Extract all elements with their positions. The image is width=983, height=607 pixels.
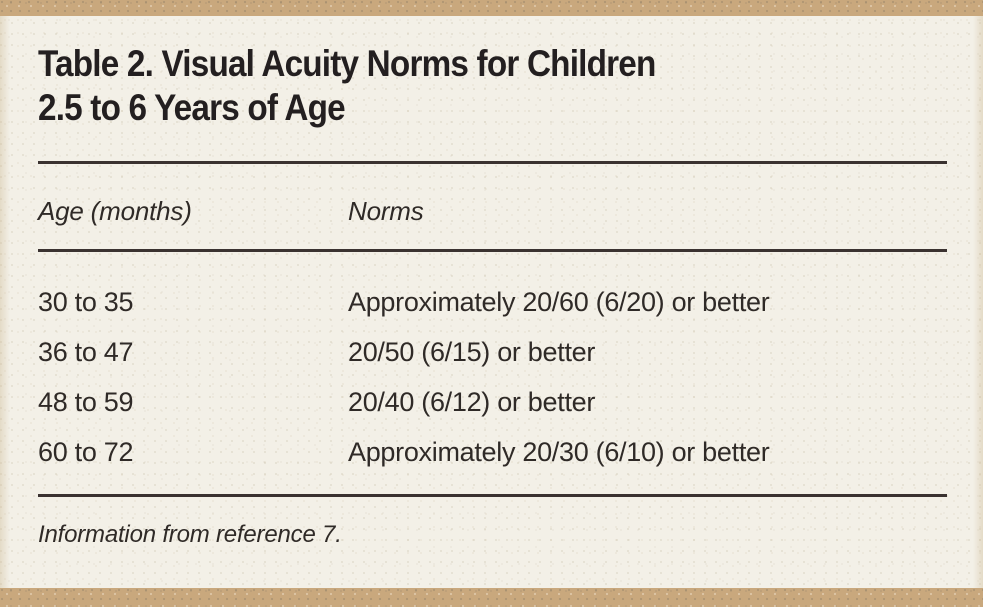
cell-age: 30 to 35	[38, 285, 348, 319]
rule-above-header	[38, 161, 947, 164]
bottom-accent-band	[0, 588, 983, 607]
cell-norm: Approximately 20/30 (6/10) or better	[348, 435, 947, 469]
right-edge-shading	[973, 16, 983, 588]
cell-age: 60 to 72	[38, 435, 348, 469]
rule-below-header	[38, 249, 947, 252]
table-title: Table 2. Visual Acuity Norms for Childre…	[38, 42, 857, 130]
left-edge-shading	[0, 16, 10, 588]
column-header-age: Age (months)	[38, 196, 348, 227]
table-row: 30 to 35 Approximately 20/60 (6/20) or b…	[38, 285, 947, 335]
cell-age: 36 to 47	[38, 335, 348, 369]
cell-age: 48 to 59	[38, 385, 348, 419]
table-body: 30 to 35 Approximately 20/60 (6/20) or b…	[38, 285, 947, 485]
table-header: Age (months) Norms	[38, 196, 947, 242]
cell-norm: 20/50 (6/15) or better	[348, 335, 947, 369]
cell-norm: Approximately 20/60 (6/20) or better	[348, 285, 947, 319]
cell-norm: 20/40 (6/12) or better	[348, 385, 947, 419]
table-footnote: Information from reference 7.	[38, 521, 342, 549]
column-header-norms: Norms	[348, 196, 947, 227]
table-row: 36 to 47 20/50 (6/15) or better	[38, 335, 947, 385]
table-header-row: Age (months) Norms	[38, 196, 947, 242]
table-row: 60 to 72 Approximately 20/30 (6/10) or b…	[38, 435, 947, 485]
table-row: 48 to 59 20/40 (6/12) or better	[38, 385, 947, 435]
top-accent-band	[0, 0, 983, 16]
table-card: Table 2. Visual Acuity Norms for Childre…	[0, 0, 983, 607]
rule-above-footnote	[38, 494, 947, 497]
